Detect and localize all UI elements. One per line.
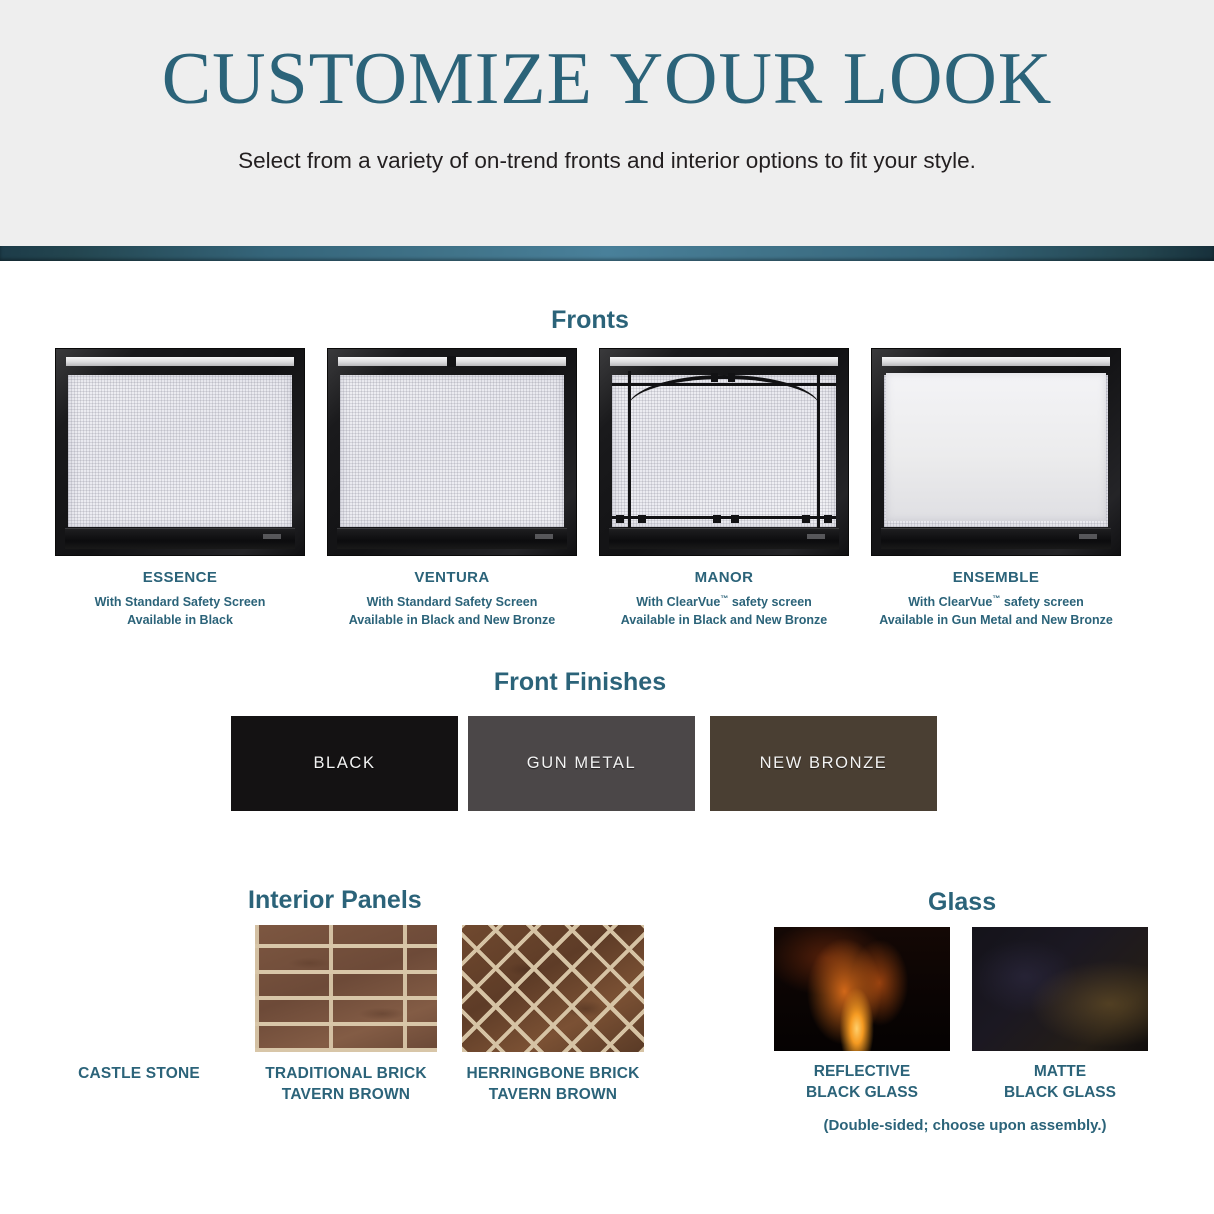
front-card-manor[interactable]: MANOR With ClearVue™ safety screen Avail…: [590, 348, 858, 629]
glass-label: MATTE BLACK GLASS: [972, 1062, 1148, 1104]
glass-label: REFLECTIVE BLACK GLASS: [774, 1062, 950, 1104]
front-screen-text: With Standard Safety Screen: [95, 595, 266, 609]
panel-label-line1: HERRINGBONE BRICK: [466, 1065, 639, 1082]
manor-center-square-left: [711, 373, 718, 382]
front-availability-text: Available in Black: [127, 613, 233, 627]
finish-label: NEW BRONZE: [760, 754, 888, 773]
manor-bottom-square-center-right: [731, 515, 739, 523]
manor-right-vertical-bar: [817, 371, 820, 529]
clearvue-screen-panel: [886, 373, 1106, 521]
page-subtitle: Select from a variety of on-trend fronts…: [0, 150, 1214, 173]
manor-center-square-right: [728, 373, 735, 382]
front-bottom-band: [881, 528, 1111, 549]
interior-panels-section-heading: Interior Panels: [248, 888, 422, 913]
panel-texture-traditional-brick: [255, 925, 437, 1052]
front-availability-text: Available in Black and New Bronze: [621, 613, 828, 627]
front-image-ensemble: [871, 348, 1121, 556]
front-screen-line: With Standard Safety Screen Available in…: [318, 593, 586, 629]
panel-label: TRADITIONAL BRICK TAVERN BROWN: [255, 1064, 437, 1106]
panel-texture-herringbone-brick: [462, 925, 644, 1052]
panel-card-traditional-brick[interactable]: TRADITIONAL BRICK TAVERN BROWN: [255, 925, 437, 1106]
front-top-strip: [882, 357, 1110, 366]
manor-bottom-square-far-right: [824, 515, 832, 523]
safety-screen-mesh: [340, 375, 564, 527]
front-image-ventura: [327, 348, 577, 556]
glass-note: (Double-sided; choose upon assembly.): [740, 1118, 1190, 1133]
front-screen-text-pre: With ClearVue: [908, 595, 992, 609]
brand-badge: [1079, 534, 1097, 539]
safety-screen-mesh: [68, 375, 292, 527]
brand-badge: [535, 534, 553, 539]
page-title: CUSTOMIZE YOUR LOOK: [0, 42, 1214, 116]
front-image-manor: [599, 348, 849, 556]
front-screen-text-post: safety screen: [728, 595, 811, 609]
hero-banner: CUSTOMIZE YOUR LOOK Select from a variet…: [0, 0, 1214, 246]
manor-arch-overlay: [612, 371, 836, 529]
front-name-label: ENSEMBLE: [862, 570, 1130, 585]
front-name-label: ESSENCE: [46, 570, 314, 585]
teal-divider-bar: [0, 246, 1214, 261]
glass-label-line1: REFLECTIVE: [814, 1063, 910, 1080]
manor-bottom-square-right: [802, 515, 810, 523]
panel-label-line2: TAVERN BROWN: [489, 1086, 617, 1103]
panel-label: HERRINGBONE BRICK TAVERN BROWN: [462, 1064, 644, 1106]
finish-swatch-new-bronze[interactable]: NEW BRONZE: [710, 716, 937, 811]
manor-bottom-square-far-left: [616, 515, 624, 523]
glass-texture-matte-black-glass: [972, 927, 1148, 1051]
fronts-section-heading: Fronts: [0, 308, 1180, 333]
panel-label-line1: CASTLE STONE: [78, 1065, 200, 1082]
finish-swatch-gun-metal[interactable]: GUN METAL: [468, 716, 695, 811]
glass-card-matte[interactable]: MATTE BLACK GLASS: [972, 927, 1148, 1104]
front-screen-text: With Standard Safety Screen: [367, 595, 538, 609]
glass-section-heading: Glass: [928, 890, 996, 915]
front-availability-text: Available in Gun Metal and New Bronze: [879, 613, 1113, 627]
finish-swatch-black[interactable]: BLACK: [231, 716, 458, 811]
front-name-label: VENTURA: [318, 570, 586, 585]
manor-left-vertical-bar: [628, 371, 631, 529]
front-bottom-band: [337, 528, 567, 549]
front-card-essence[interactable]: ESSENCE With Standard Safety Screen Avai…: [46, 348, 314, 629]
front-availability-text: Available in Black and New Bronze: [349, 613, 556, 627]
front-screen-line: With ClearVue™ safety screen Available i…: [862, 593, 1130, 629]
front-bottom-band: [609, 528, 839, 549]
brand-badge: [807, 534, 825, 539]
glass-label-line1: MATTE: [1034, 1063, 1086, 1080]
front-bottom-band: [65, 528, 295, 549]
front-name-label: MANOR: [590, 570, 858, 585]
panel-label: CASTLE STONE: [48, 1064, 230, 1085]
panel-label-line2: TAVERN BROWN: [282, 1086, 410, 1103]
finish-label: GUN METAL: [527, 754, 636, 773]
glass-label-line2: BLACK GLASS: [1004, 1084, 1116, 1101]
glass-card-reflective[interactable]: REFLECTIVE BLACK GLASS: [774, 927, 950, 1104]
front-screen-text-pre: With ClearVue: [636, 595, 720, 609]
glass-texture-reflective-black-glass: [774, 927, 950, 1051]
front-card-ventura[interactable]: VENTURA With Standard Safety Screen Avai…: [318, 348, 586, 629]
front-finishes-section-heading: Front Finishes: [0, 670, 1160, 695]
customize-your-look-page: CUSTOMIZE YOUR LOOK Select from a variet…: [0, 0, 1214, 1214]
finish-label: BLACK: [313, 754, 375, 773]
front-top-strip: [66, 357, 294, 366]
manor-bottom-square-left: [638, 515, 646, 523]
front-top-strip: [610, 357, 838, 366]
panel-card-herringbone-brick[interactable]: HERRINGBONE BRICK TAVERN BROWN: [462, 925, 644, 1106]
glass-label-line2: BLACK GLASS: [806, 1084, 918, 1101]
panel-texture-castle-stone: [48, 925, 230, 1052]
front-image-essence: [55, 348, 305, 556]
front-screen-line: With Standard Safety Screen Available in…: [46, 593, 314, 629]
front-screen-text-post: safety screen: [1000, 595, 1083, 609]
brand-badge: [263, 534, 281, 539]
panel-label-line1: TRADITIONAL BRICK: [265, 1065, 427, 1082]
front-top-strip-split: [338, 357, 566, 366]
front-card-ensemble[interactable]: ENSEMBLE With ClearVue™ safety screen Av…: [862, 348, 1130, 629]
panel-card-castle-stone[interactable]: CASTLE STONE: [48, 925, 230, 1085]
manor-bottom-square-center-left: [713, 515, 721, 523]
front-screen-line: With ClearVue™ safety screen Available i…: [590, 593, 858, 629]
